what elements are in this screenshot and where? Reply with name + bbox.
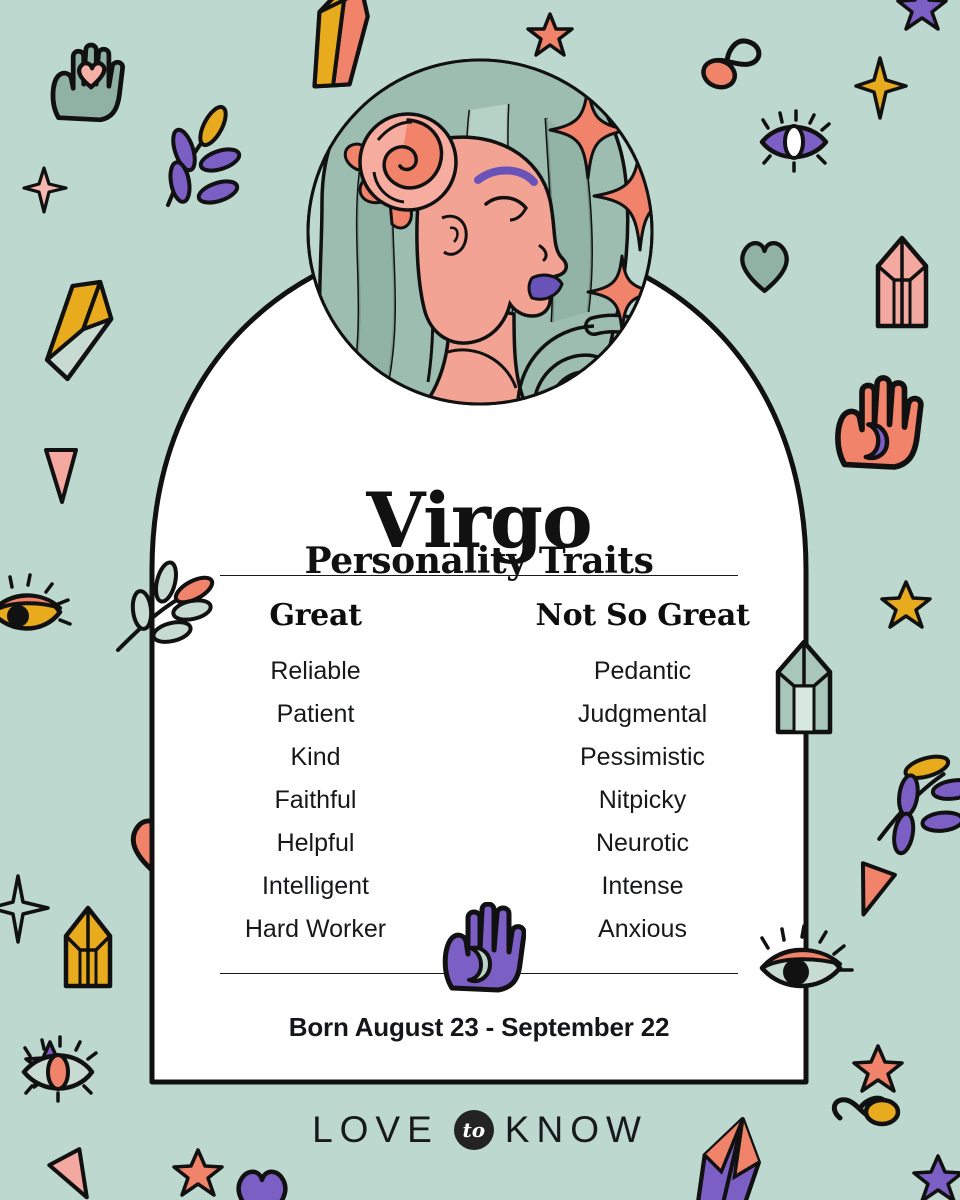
- leaf-branch-icon: [118, 560, 216, 650]
- foreground-decorations: [0, 0, 960, 1200]
- eye-sage-icon: [762, 926, 852, 986]
- logo-badge-text: to: [463, 1118, 486, 1142]
- logo-badge-to: to: [454, 1110, 494, 1150]
- lovetoknow-logo: LOVE to KNOW: [0, 1105, 960, 1155]
- logo-word-love: LOVE: [312, 1109, 439, 1151]
- virgo-personality-poster: Virgo Personality Traits Great Reliable …: [0, 0, 960, 1200]
- crystal-sage-icon: [778, 642, 830, 732]
- logo-word-know: KNOW: [505, 1109, 648, 1151]
